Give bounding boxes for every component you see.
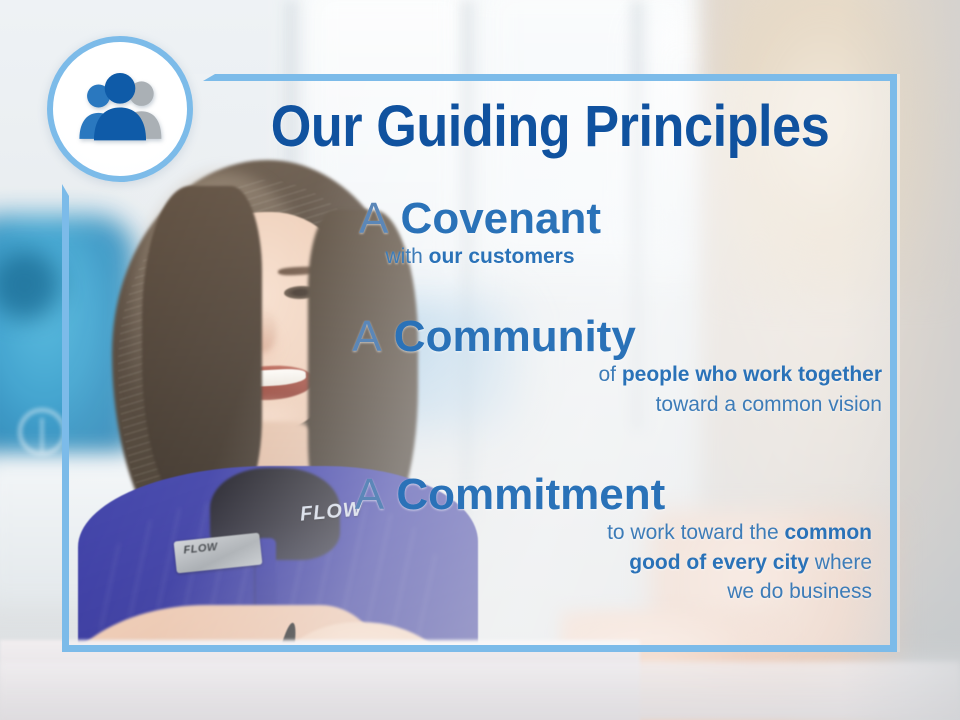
desk-surface-foreground (0, 662, 960, 720)
principle-commitment: A Commitment to work toward the commongo… (70, 472, 890, 607)
principle-subtext: with our customers (70, 242, 890, 272)
principle-keyword: Community (394, 312, 636, 361)
principle-article: A (359, 194, 388, 243)
subtext-line: to work toward the common (70, 518, 872, 548)
principle-keyword: Covenant (401, 194, 601, 243)
guiding-principles-banner: FLOW FLOW (0, 0, 960, 720)
principle-subtext: to work toward the commongood of every c… (70, 518, 890, 607)
page-title: Our Guiding Principles (253, 98, 847, 156)
principle-heading: A Commitment (70, 472, 890, 518)
subtext-line: of people who work together (70, 360, 882, 390)
principle-article: A (355, 470, 384, 519)
principle-article: A (352, 312, 381, 361)
subtext-line: toward a common vision (70, 390, 882, 420)
principle-community: A Community of people who work togethert… (70, 314, 890, 419)
vehicle-emblem (18, 408, 66, 456)
subtext-line: with our customers (70, 242, 890, 272)
principle-heading: A Community (70, 314, 890, 360)
subtext-line: good of every city where (70, 548, 872, 578)
text-content: Our Guiding Principles A Covenant with o… (70, 74, 890, 652)
subtext-line: we do business (70, 577, 872, 607)
principle-keyword: Commitment (396, 470, 665, 519)
principle-heading: A Covenant (70, 196, 890, 242)
principle-subtext: of people who work togethertoward a comm… (70, 360, 890, 420)
principle-covenant: A Covenant with our customers (70, 196, 890, 272)
